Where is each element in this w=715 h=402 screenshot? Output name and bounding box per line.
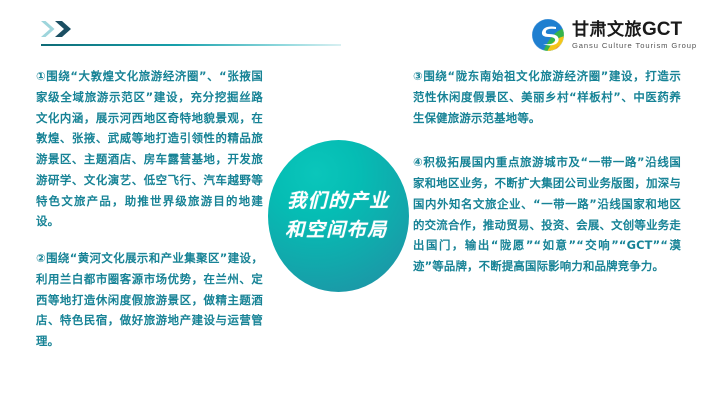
header-divider-rule <box>41 44 341 46</box>
double-chevron-right-icon <box>39 20 83 38</box>
gansu-culture-tourism-swirl-logo-icon <box>531 18 565 52</box>
paragraph-4: ④积极拓展国内重点旅游城市及“一带一路”沿线国家和地区业务，不断扩大集团公司业务… <box>413 152 681 277</box>
logo-title: 甘肃文旅GCT <box>572 20 697 39</box>
paragraph-1: ①围绕“大敦煌文化旅游经济圈”、“张掖国家级全域旅游示范区”建设，充分挖掘丝路文… <box>36 66 263 232</box>
brand-logo: 甘肃文旅GCT Gansu Culture Tourism Group <box>531 18 697 52</box>
badge-line-2: 和空间布局 <box>285 216 388 245</box>
paragraph-2: ②围绕“黄河文化展示和产业集聚区”建设，利用兰白都市圈客源市场优势，在兰州、定西… <box>36 248 263 352</box>
badge-line-1: 我们的产业 <box>287 187 390 216</box>
logo-subtitle: Gansu Culture Tourism Group <box>572 42 697 50</box>
left-text-column: ①围绕“大敦煌文化旅游经济圈”、“张掖国家级全域旅游示范区”建设，充分挖掘丝路文… <box>36 66 263 352</box>
right-text-column: ③围绕“陇东南始祖文化旅游经济圈”建设，打造示范性休闲度假景区、美丽乡村“样板村… <box>413 66 681 277</box>
slide-canvas: 甘肃文旅GCT Gansu Culture Tourism Group ①围绕“… <box>0 0 715 402</box>
center-title-badge: 我们的产业 和空间布局 <box>268 140 409 292</box>
paragraph-3: ③围绕“陇东南始祖文化旅游经济圈”建设，打造示范性休闲度假景区、美丽乡村“样板村… <box>413 66 681 128</box>
